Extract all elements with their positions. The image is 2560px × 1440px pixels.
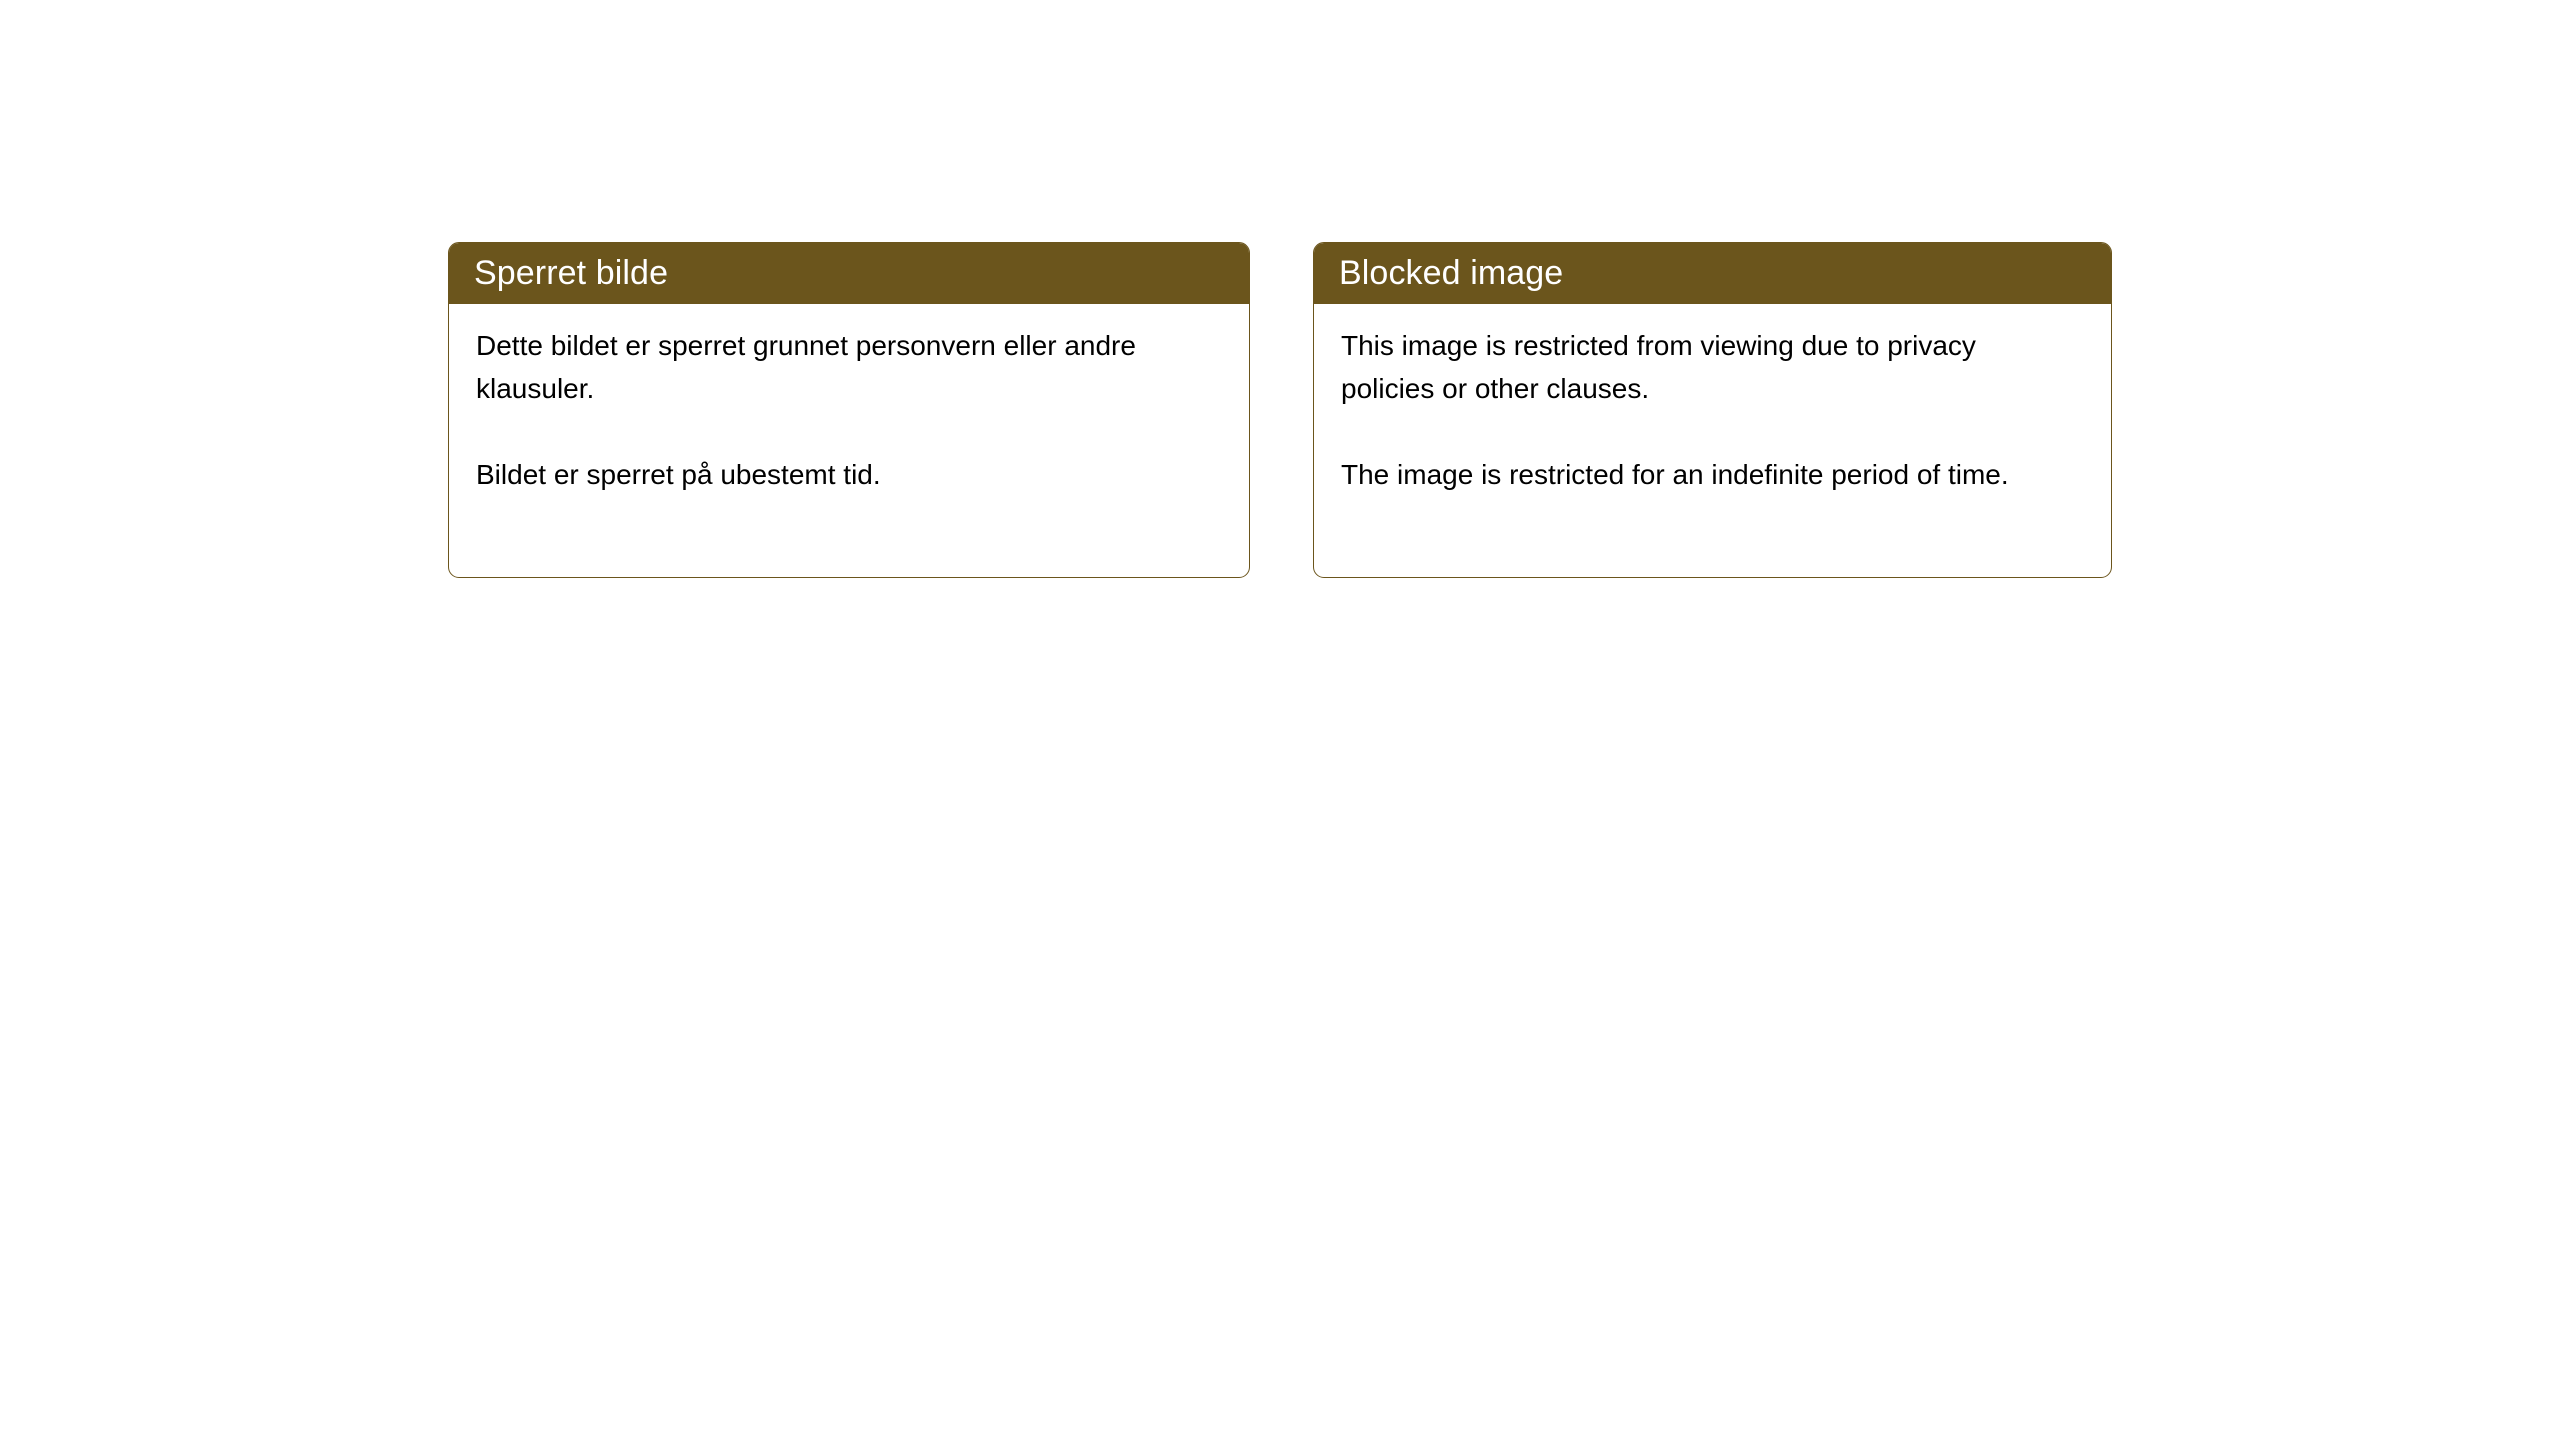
card-paragraph-secondary-english: The image is restricted for an indefinit… xyxy=(1341,453,2071,496)
card-paragraph-primary-english: This image is restricted from viewing du… xyxy=(1341,324,2071,410)
card-header-english: Blocked image xyxy=(1313,242,2112,304)
blocked-image-notices: Sperret bilde Dette bildet er sperret gr… xyxy=(448,242,2112,578)
card-paragraph-secondary-norwegian: Bildet er sperret på ubestemt tid. xyxy=(476,453,1206,496)
card-body-english: This image is restricted from viewing du… xyxy=(1314,304,2111,577)
blocked-image-card-norwegian: Sperret bilde Dette bildet er sperret gr… xyxy=(448,242,1250,578)
card-header-norwegian: Sperret bilde xyxy=(448,242,1250,304)
card-body-norwegian: Dette bildet er sperret grunnet personve… xyxy=(449,304,1249,577)
paragraph-spacer xyxy=(1341,410,2087,453)
card-paragraph-primary-norwegian: Dette bildet er sperret grunnet personve… xyxy=(476,324,1206,410)
card-title-english: Blocked image xyxy=(1339,253,1563,293)
paragraph-spacer xyxy=(476,410,1225,453)
card-title-norwegian: Sperret bilde xyxy=(474,253,668,293)
blocked-image-card-english: Blocked image This image is restricted f… xyxy=(1313,242,2112,578)
